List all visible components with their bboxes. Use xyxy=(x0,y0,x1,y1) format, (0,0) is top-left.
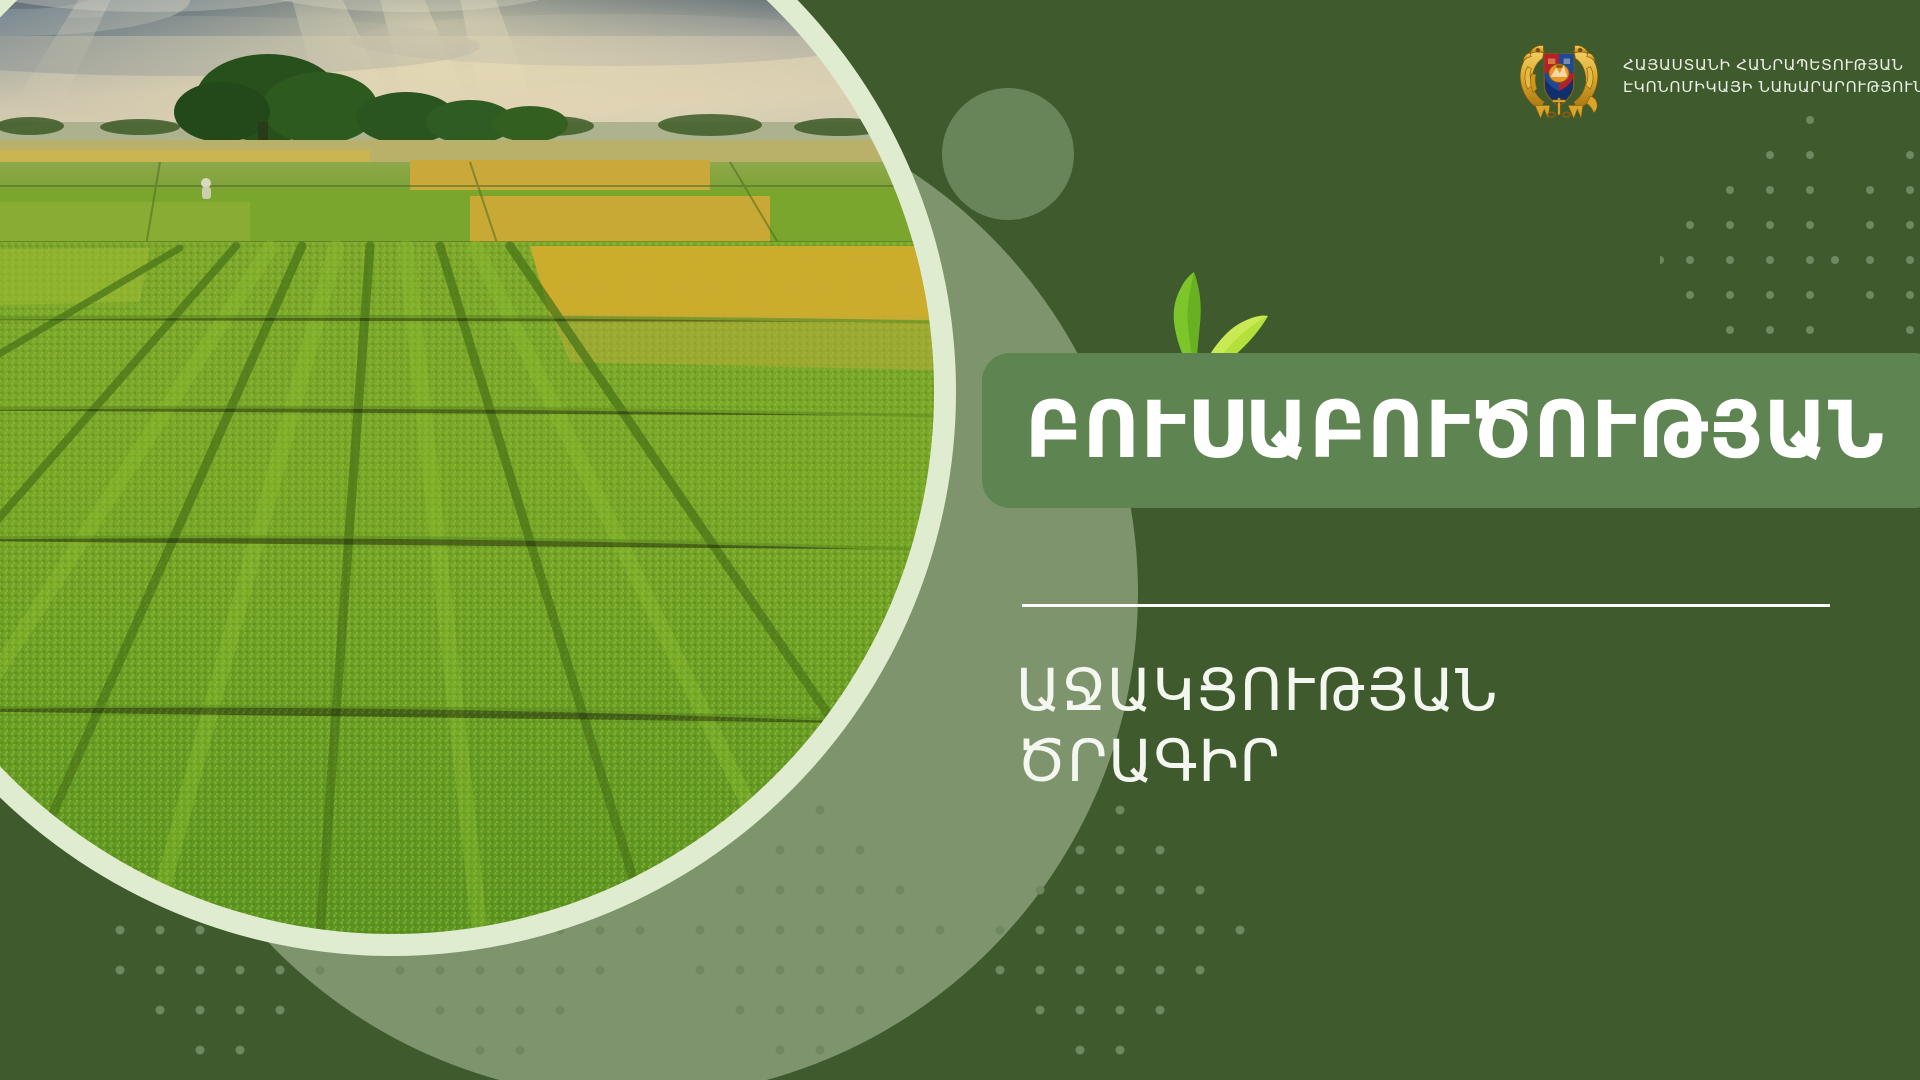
ministry-name-line-2: ԷԿՈՆՈՄԻԿԱՅԻ ՆԱԽԱՐԱՐՈՒԹՅՈՒՆ xyxy=(1623,78,1920,97)
dot-pattern-top-right xyxy=(1660,110,1920,350)
armenia-coat-of-arms-icon xyxy=(1513,30,1605,122)
subtitle-line-2: ԾՐԱԳԻՐ xyxy=(1016,726,1816,797)
page-title: ԲՈՒՍԱԲՈՒԾՈՒԹՅԱՆ xyxy=(982,392,1885,470)
subtitle-block: ԱՋԱԿՑՈՒԹՅԱՆ ԾՐԱԳԻՐ xyxy=(1016,655,1816,797)
ministry-name-block: ՀԱՅԱՍՏԱՆԻ ՀԱՆՐԱՊԵՏՈՒԹՅԱՆ ԷԿՈՆՈՄԻԿԱՅԻ ՆԱԽ… xyxy=(1623,56,1920,97)
divider-rule xyxy=(1022,604,1830,607)
ministry-logo-lockup: ՀԱՅԱՍՏԱՆԻ ՀԱՆՐԱՊԵՏՈՒԹՅԱՆ ԷԿՈՆՈՄԻԿԱՅԻ ՆԱԽ… xyxy=(1513,30,1920,122)
decorative-small-circle xyxy=(942,88,1074,220)
rice-paddy-field-photo xyxy=(0,0,934,934)
slide-canvas: ՀԱՅԱՍՏԱՆԻ ՀԱՆՐԱՊԵՏՈՒԹՅԱՆ ԷԿՈՆՈՄԻԿԱՅԻ ՆԱԽ… xyxy=(0,0,1920,1080)
subtitle-line-1: ԱՋԱԿՑՈՒԹՅԱՆ xyxy=(1016,655,1816,726)
title-pill: ԲՈՒՍԱԲՈՒԾՈՒԹՅԱՆ xyxy=(982,353,1920,508)
ministry-name-line-1: ՀԱՅԱՍՏԱՆԻ ՀԱՆՐԱՊԵՏՈՒԹՅԱՆ xyxy=(1623,56,1920,75)
